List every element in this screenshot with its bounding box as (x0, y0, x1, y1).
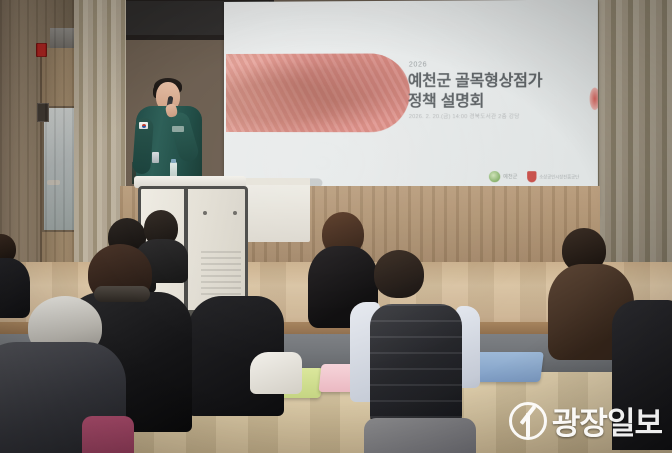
id-badge (152, 152, 159, 163)
lectern-knob (233, 211, 237, 215)
slide-logo-row: 예천군 소상공인시장진흥공단 (489, 171, 579, 183)
yecheon-county-label: 예천군 (503, 173, 517, 180)
audience-trousers (364, 418, 476, 453)
door-handle (47, 180, 60, 185)
audience-torso (0, 258, 30, 318)
korean-flag-patch-icon (139, 122, 148, 129)
watermark: 광장일보 (509, 398, 662, 443)
watermark-text: 광장일보 (552, 398, 662, 443)
audience-puffer-vest (370, 304, 462, 426)
shield-icon (527, 171, 536, 182)
slide-photo-overlay (226, 53, 410, 132)
slide-title-line1: 예천군 골목형상점가 (408, 71, 592, 91)
gwangjang-ilbo-logo-icon (509, 402, 547, 440)
yecheon-county-logo: 예천군 (489, 171, 518, 182)
slide-accent-graphic (226, 53, 410, 132)
light-switch-plate (37, 103, 49, 122)
wall-vent (50, 28, 75, 48)
fire-alarm-icon (36, 43, 47, 57)
audience-head (374, 250, 424, 298)
slide-subtitle: 2026. 2. 20.(금) 14:00 경북도서관 2층 강당 (409, 112, 520, 120)
yecheon-county-mark-icon (489, 171, 500, 182)
side-table-top (240, 178, 310, 185)
cushion-blue (470, 352, 544, 382)
slide-title-line2: 정책 설명회 (408, 91, 592, 111)
side-table (240, 178, 310, 242)
slide-title: 예천군 골목형상점가 정책 설명회 (408, 71, 592, 112)
press-photograph: 2026 예천군 골목형상점가 정책 설명회 2026. 2. 20.(금) 1… (0, 0, 672, 453)
lectern-grille (201, 251, 241, 295)
lectern-knob (203, 211, 207, 215)
small-business-agency-logo: 소상공인시장진흥공단 (527, 171, 579, 182)
small-business-agency-label: 소상공인시장진흥공단 (539, 174, 579, 180)
audience-pink-garment (82, 416, 134, 453)
audience-fur-collar (94, 286, 150, 302)
slide-edge-accent (590, 88, 598, 111)
uniform-name-patch (172, 126, 184, 132)
slide-year: 2026 (409, 61, 427, 68)
audience-bag (250, 352, 302, 394)
